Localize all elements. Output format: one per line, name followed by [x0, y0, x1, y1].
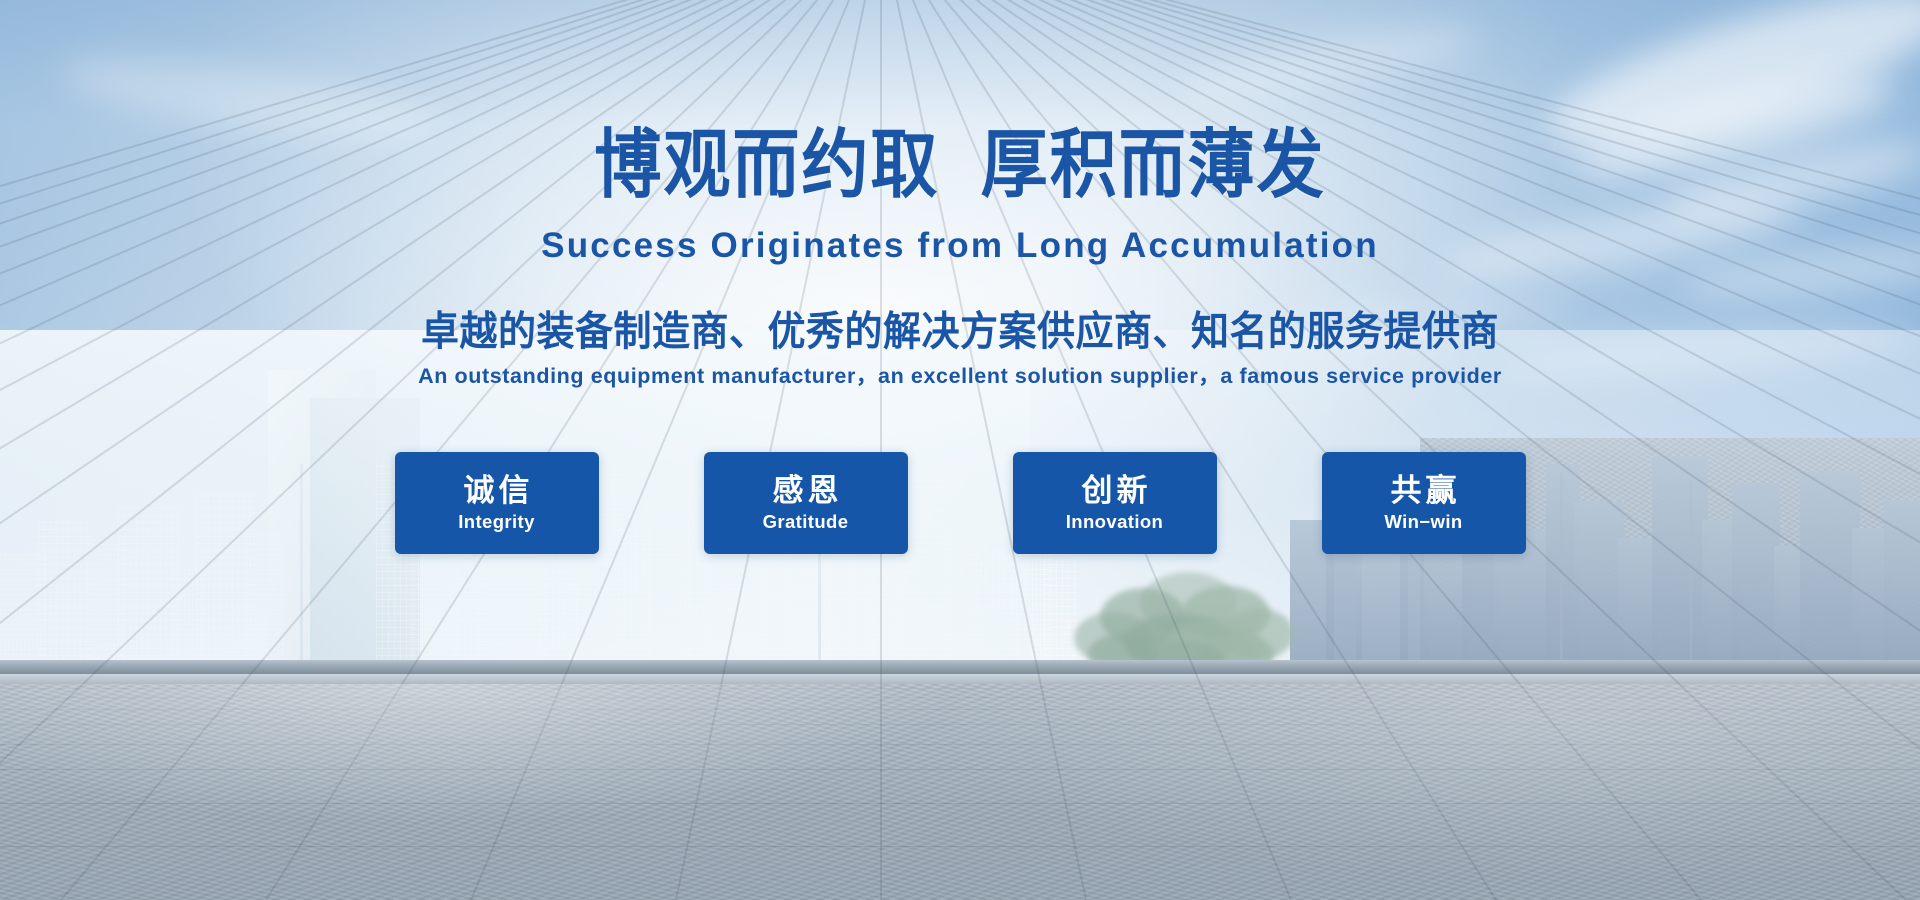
banner-content: 博观而约取 厚积而薄发 Success Originates from Long… [0, 0, 1920, 900]
value-card-label-cn: 感恩 [769, 475, 843, 508]
value-card-label-en: Innovation [1066, 513, 1164, 532]
subheadline-chinese: 卓越的装备制造商、优秀的解决方案供应商、知名的服务提供商 [0, 312, 1920, 352]
subheadline-english: An outstanding equipment manufacturer，an… [0, 366, 1920, 388]
value-card-gratitude[interactable]: 感恩Gratitude [704, 452, 908, 554]
headline-english: Success Originates from Long Accumulatio… [0, 228, 1920, 263]
value-card-label-cn: 诚信 [460, 475, 534, 508]
value-card-win-win[interactable]: 共赢Win−win [1322, 452, 1526, 554]
core-values-card-list: 诚信Integrity感恩Gratitude创新Innovation共赢Win−… [0, 452, 1920, 554]
hero-banner: 博观而约取 厚积而薄发 Success Originates from Long… [0, 0, 1920, 900]
value-card-label-en: Integrity [458, 513, 535, 532]
value-card-label-en: Gratitude [763, 513, 849, 532]
value-card-label-cn: 创新 [1078, 475, 1152, 508]
headline-chinese: 博观而约取 厚积而薄发 [0, 128, 1920, 203]
value-card-label-en: Win−win [1384, 513, 1462, 532]
value-card-innovation[interactable]: 创新Innovation [1013, 452, 1217, 554]
value-card-label-cn: 共赢 [1387, 475, 1461, 508]
value-card-integrity[interactable]: 诚信Integrity [395, 452, 599, 554]
